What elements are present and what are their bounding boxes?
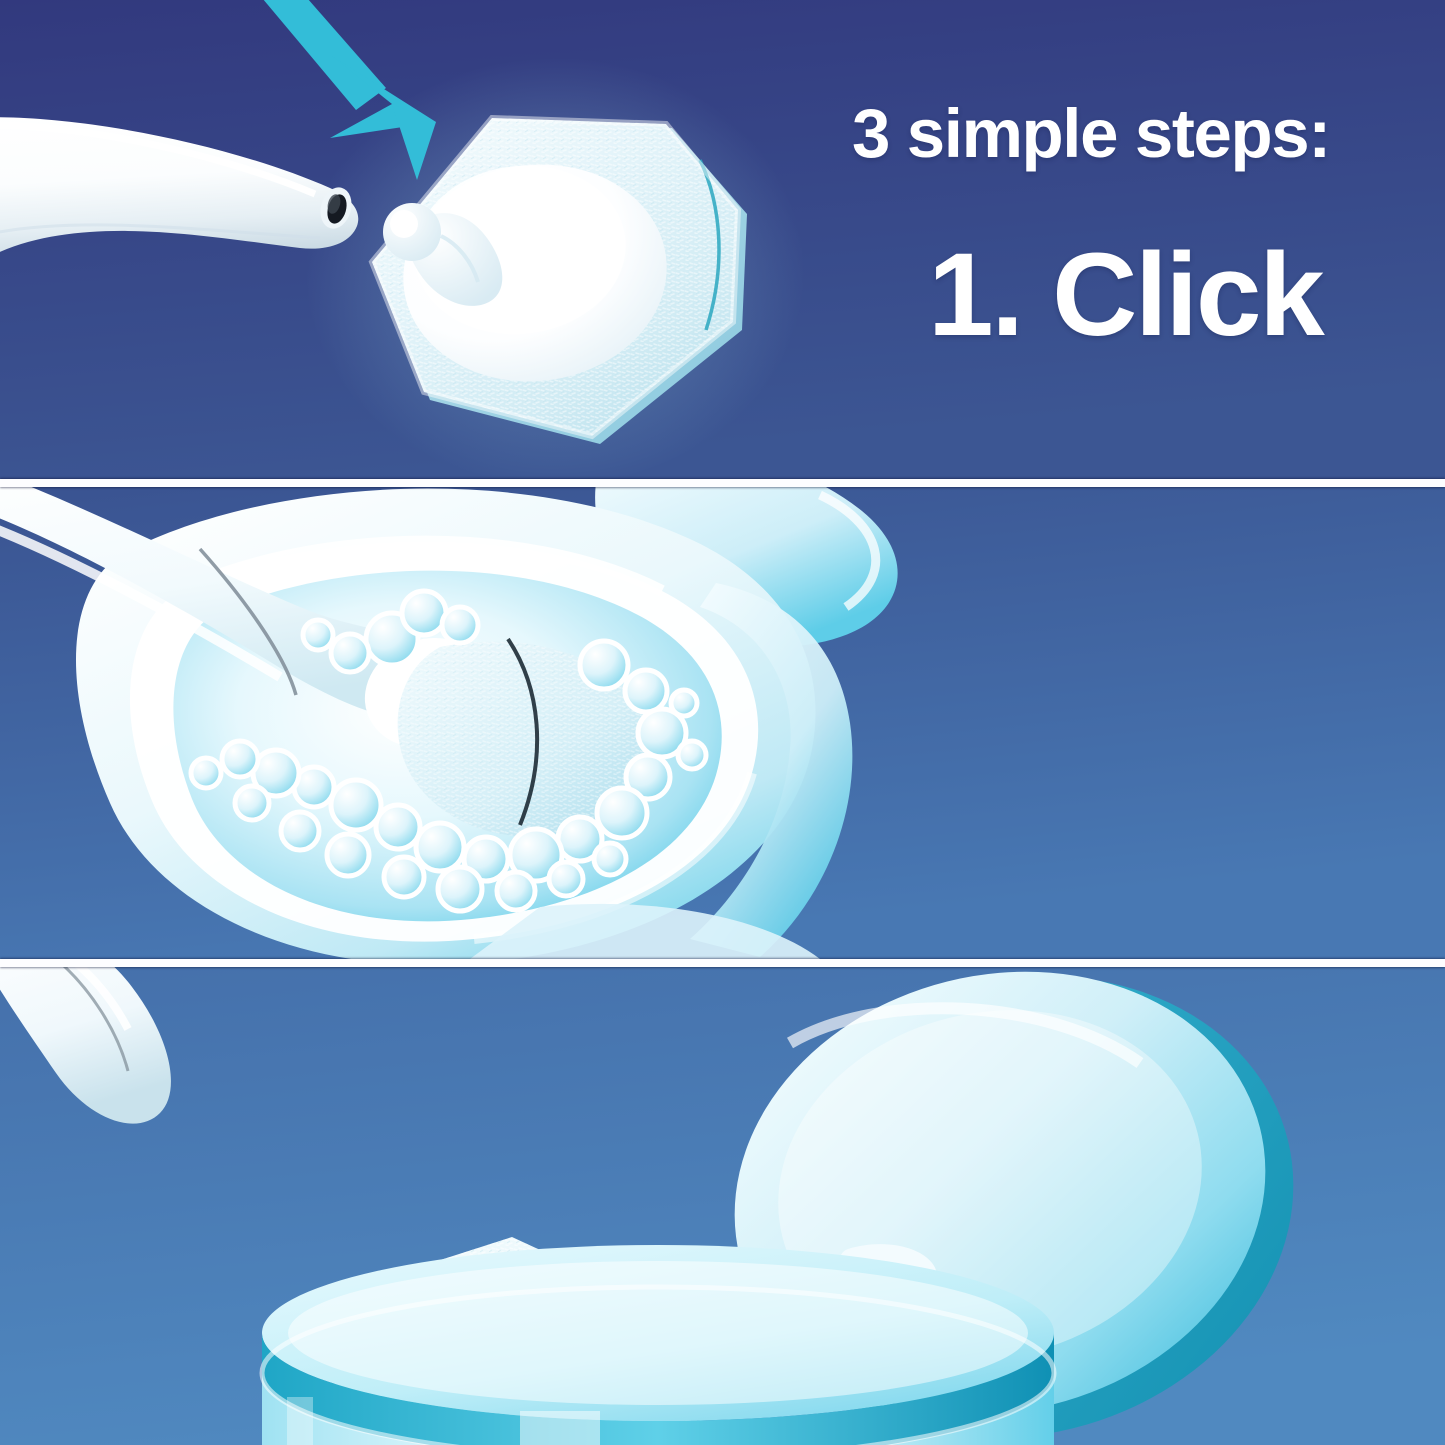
panel-divider-1 — [0, 479, 1445, 487]
swish-illustration — [0, 487, 1445, 959]
trash-can-body — [262, 1245, 1054, 1445]
step-label-click: 1. Click — [928, 236, 1322, 354]
infographic-canvas: 3 simple steps: 1. Click — [0, 0, 1445, 1445]
panel-divider-2 — [0, 959, 1445, 967]
step-panel-swish: 2. Swish — [0, 487, 1445, 959]
toss-illustration — [0, 967, 1445, 1445]
step-panel-click: 3 simple steps: 1. Click — [0, 0, 1445, 479]
page-title: 3 simple steps: — [852, 99, 1330, 168]
step-panel-toss: 3. Toss — [0, 967, 1445, 1445]
